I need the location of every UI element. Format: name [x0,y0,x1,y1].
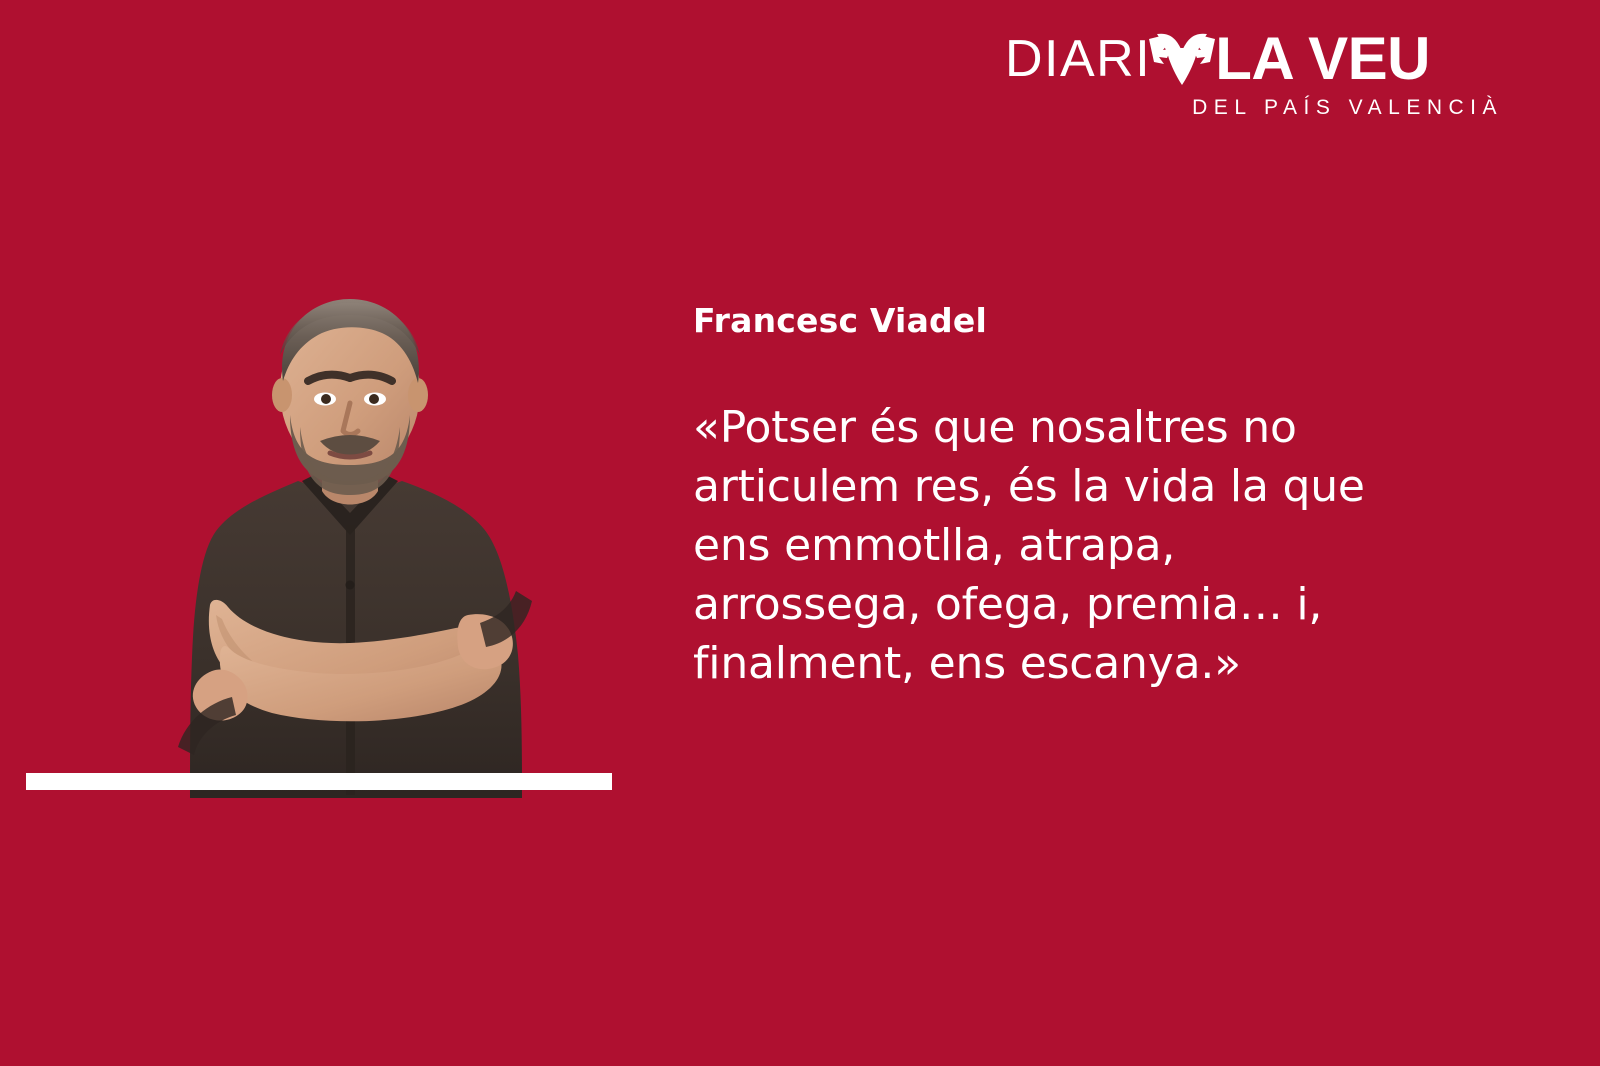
logo-subtitle: DEL PAÍS VALENCIÀ [1005,96,1505,120]
quote-card: DIARI LA VEU DEL PAÍS VALENCIÀ [0,0,1600,1066]
bat-icon [1151,31,1215,87]
divider-rule [26,773,612,790]
quote-line: ens emmotlla, atrapa, [693,516,1483,575]
quote-line: finalment, ens escanya.» [693,634,1483,693]
portrait-photo [150,285,570,798]
site-logo[interactable]: DIARI LA VEU DEL PAÍS VALENCIÀ [1005,28,1505,128]
logo-wordmark-row: DIARI LA VEU [1005,28,1505,90]
quote-text-block: Francesc Viadel «Potser és que nosaltres… [693,300,1483,693]
quote-line: «Potser és que nosaltres no [693,398,1483,457]
logo-word-diari: DIARI [1005,31,1151,87]
quote-body: «Potser és que nosaltres no articulem re… [693,398,1483,693]
quote-line: arrossega, ofega, premia… i, [693,575,1483,634]
quote-line: articulem res, és la vida la que [693,457,1483,516]
speaker-name: Francesc Viadel [693,300,1483,342]
logo-word-laveu: LA VEU [1215,29,1430,89]
